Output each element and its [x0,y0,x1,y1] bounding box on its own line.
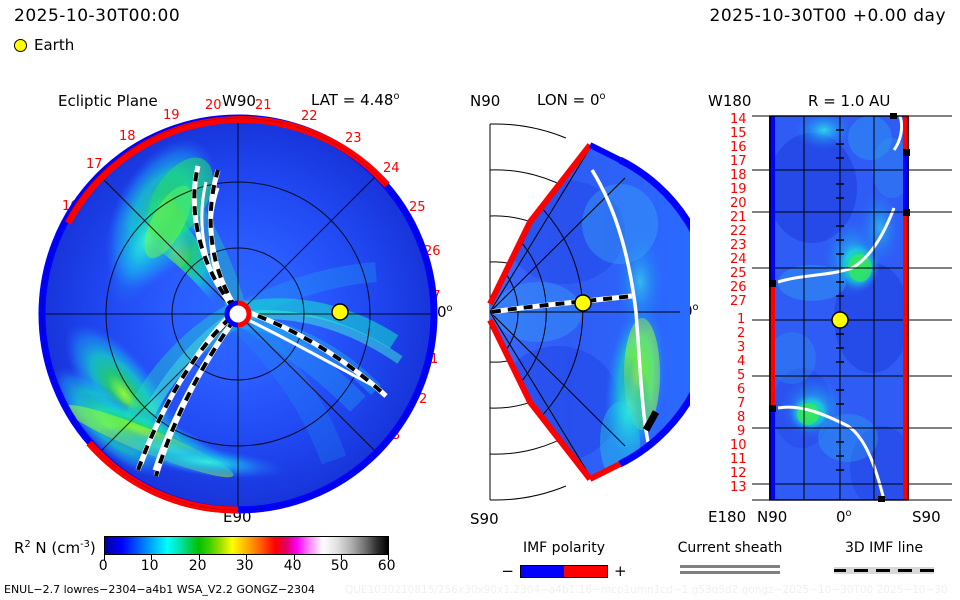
meridional-plot [470,112,690,512]
imf-positive-sign: + [614,562,627,580]
imf-negative-swatch [521,566,564,577]
imf-polarity-legend: IMF polarity − + [484,540,644,580]
current-sheath-legend: Current sheath [650,540,810,577]
earth-legend-label: Earth [34,36,74,54]
current-sheath-swatch [650,565,810,574]
header-date-right: 2025-10-30T00 +0.00 day [710,6,946,26]
colorbar-tick-label: 30 [236,558,254,574]
imf-line-swatch [834,567,934,574]
shell-bottom-label: E180 [708,508,746,526]
colorbar-label: R2 N (cm-3) [14,539,96,557]
shell-plot [752,108,952,508]
shell-xaxis-center: 0o [836,508,852,526]
colorbar-tick-label: 10 [141,558,159,574]
imf-polarity-bar [520,565,608,578]
meridional-top-label: N90 [470,92,500,110]
current-sheath-line [680,571,780,574]
colorbar-tick-label: 20 [189,558,207,574]
colorbar-tick-label: 40 [284,558,302,574]
colorbar-tick-label: 0 [99,558,108,574]
imf-positive-swatch [564,566,607,577]
earth-marker-icon [14,39,27,52]
meridional-bottom-label: S90 [470,510,499,528]
colorbar-tick-label: 50 [331,558,349,574]
earth-legend: Earth [14,36,74,54]
header-date-left: 2025-10-30T00:00 [14,6,180,26]
colorbar-gradient [104,536,389,555]
current-sheath-line [680,565,780,568]
current-sheath-title: Current sheath [650,540,810,556]
imf-line-legend: 3D IMF line [818,540,950,574]
colorbar-tick-label: 60 [378,558,396,574]
shell-xaxis-right: S90 [912,508,941,526]
ecliptic-plot [28,104,448,524]
shell-ytick-labels: 14 15 16 17 18 19 20 21 22 23 24 25 26 2… [700,108,760,508]
imf-polarity-title: IMF polarity [484,540,644,556]
colorbar: R2 N (cm-3) 0 10 20 30 40 50 60 [14,536,389,557]
imf-line-title: 3D IMF line [818,540,950,556]
footer-model-info: ENUL−2.7 lowres−2304−a4b1 WSA_V2.2 GONGZ… [4,583,315,596]
meridional-lon-readout: LON = 0o [537,91,605,109]
shell-xaxis-left: N90 [757,508,787,526]
footer-run-id: QUE1030210815/256x30x90x1.2304−a4b1.16−m… [345,584,948,596]
imf-negative-sign: − [501,562,514,580]
